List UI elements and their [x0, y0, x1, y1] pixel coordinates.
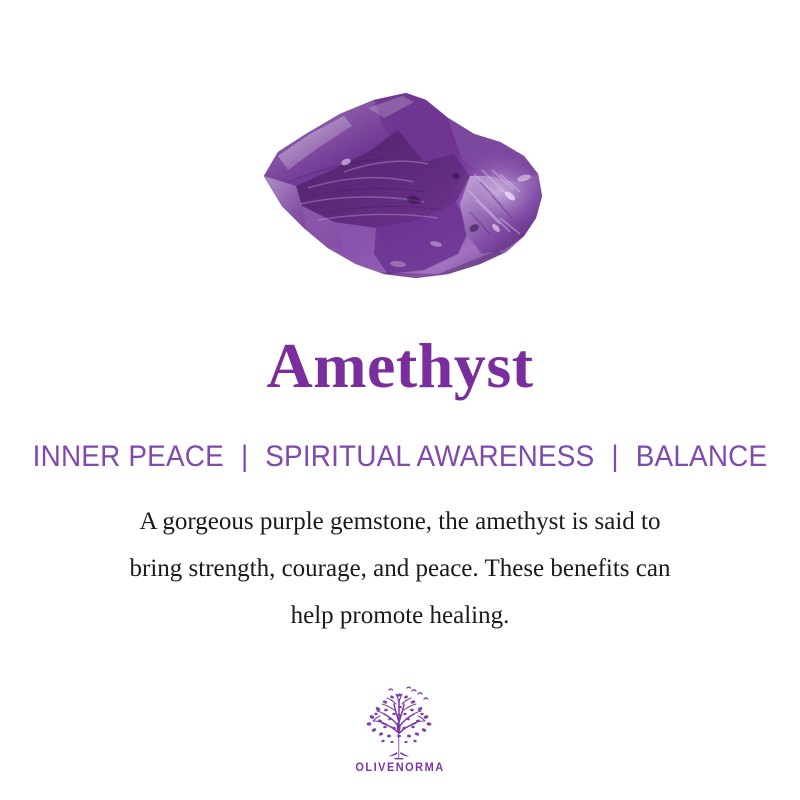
- keyword-inner-peace: INNER PEACE: [33, 440, 224, 473]
- amethyst-info-card: Amethyst INNER PEACE | SPIRITUAL AWARENE…: [0, 0, 800, 800]
- keyword-spiritual-awareness: SPIRITUAL AWARENESS: [265, 440, 594, 473]
- amethyst-image: [248, 78, 554, 293]
- description-line: bring strength, courage, and peace. Thes…: [60, 545, 740, 592]
- keyword-balance: BALANCE: [636, 440, 768, 473]
- olive-tree-icon: [356, 686, 444, 760]
- description-line: help promote healing.: [60, 592, 740, 639]
- description-text: A gorgeous purple gemstone, the amethyst…: [60, 498, 740, 639]
- keyword-row: INNER PEACE | SPIRITUAL AWARENESS | BALA…: [28, 440, 772, 473]
- brand-wordmark: OLIVENORMA: [20, 762, 780, 774]
- description-line: A gorgeous purple gemstone, the amethyst…: [60, 498, 740, 545]
- gemstone-hero: [0, 60, 800, 310]
- keyword-separator: |: [232, 440, 258, 473]
- keyword-separator: |: [602, 440, 628, 473]
- amethyst-raw-crystal-icon: [248, 78, 554, 293]
- brand-logo: OLIVENORMA: [0, 686, 800, 774]
- page-title: Amethyst: [0, 332, 800, 399]
